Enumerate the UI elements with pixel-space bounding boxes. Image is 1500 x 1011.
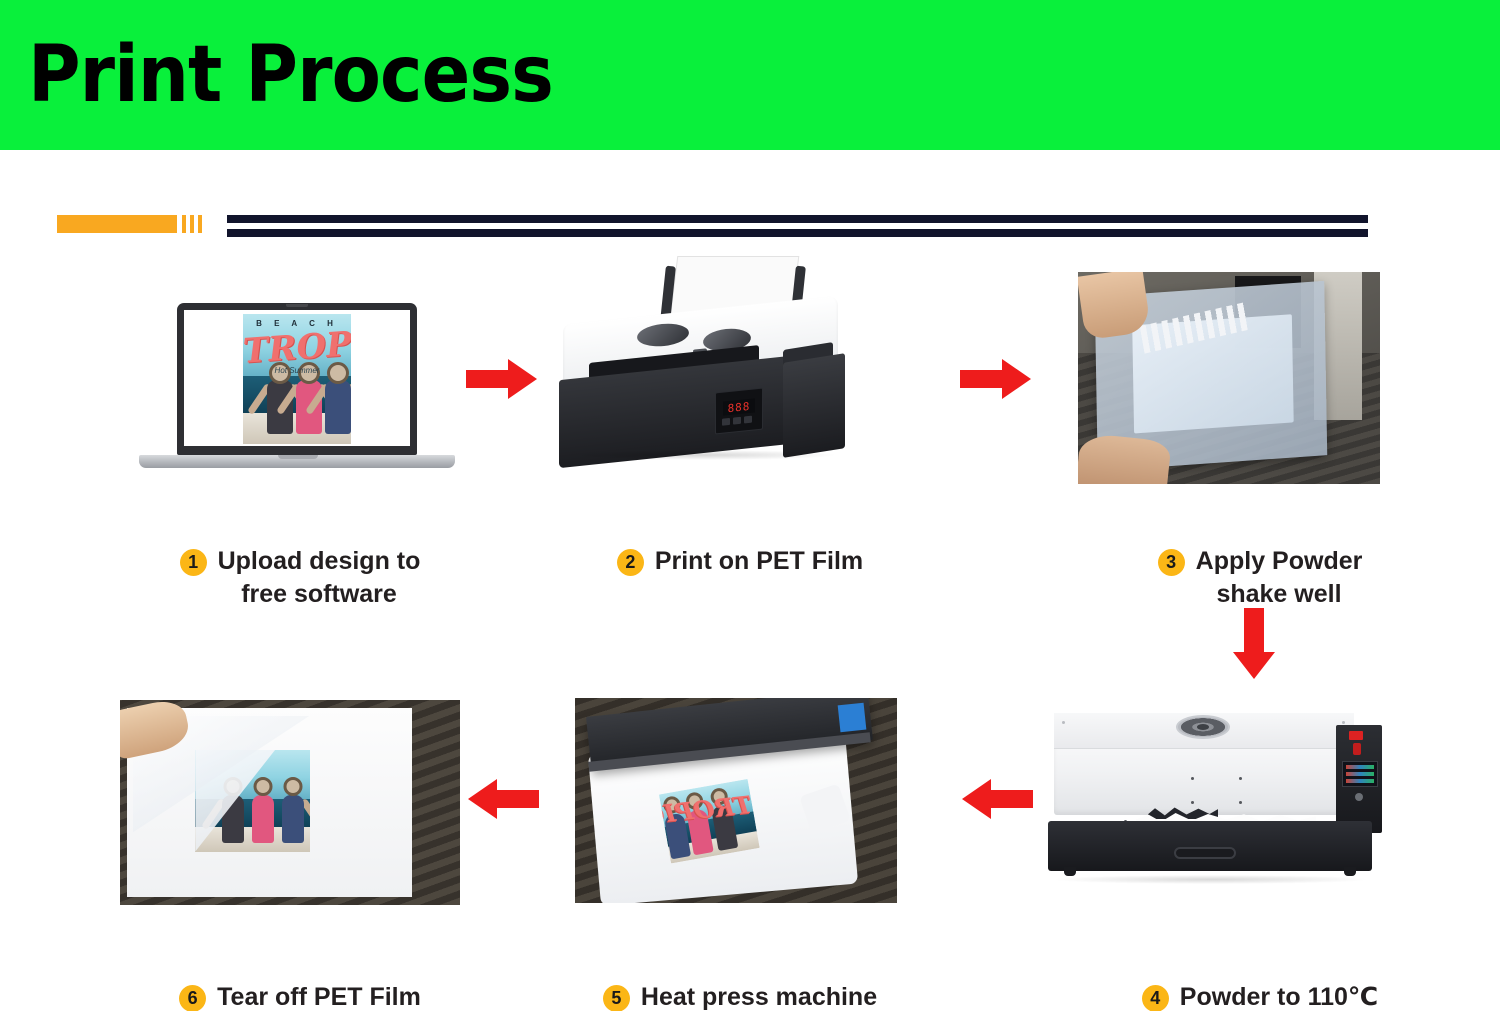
step-4-caption: 4 Powder to 110℃ for 50 seconds xyxy=(1080,948,1440,1011)
figure-body xyxy=(325,380,351,434)
oven-power-switch[interactable] xyxy=(1349,731,1363,740)
printer-ink-tank xyxy=(783,353,845,458)
oven-display-line xyxy=(1346,779,1374,783)
step-3-caption-text: Apply Powder shake well xyxy=(1196,545,1363,611)
poster-artwork: B E A C H TROPICAL Hot Summer xyxy=(243,314,351,444)
oven-display-line xyxy=(1346,786,1374,787)
divider-dark-bar xyxy=(227,229,1368,237)
arrow-step2-to-step3 xyxy=(960,358,1032,400)
design-poster: B E A C H TROPICAL Hot Summer xyxy=(243,314,351,444)
oven-dot xyxy=(1191,777,1194,780)
step-2-caption: 2 Print on PET Film xyxy=(560,512,920,611)
divider-orange-bar xyxy=(57,215,177,233)
poster-artwork-mirrored: TROPICAL xyxy=(659,779,760,863)
step-2-media-dtf-printer: PLANET-ECO 888 xyxy=(545,250,865,485)
step-1-caption: 1 Upload design to free software xyxy=(120,512,480,644)
heat-press-label xyxy=(838,703,866,732)
arrow-step3-to-step4 xyxy=(1232,608,1276,680)
step-3-media-hands-holding-pet-film xyxy=(1078,272,1380,484)
printer-button xyxy=(722,418,730,426)
arrow-step1-to-step2 xyxy=(466,358,538,400)
oven-fan-vent-icon xyxy=(1176,715,1230,739)
oven-base xyxy=(1048,821,1372,871)
oven-illustration xyxy=(1036,695,1386,890)
printer-button xyxy=(744,416,752,424)
laptop-illustration: B E A C H TROPICAL Hot Summer xyxy=(125,283,470,483)
step-1-badge: 1 xyxy=(180,549,207,576)
step-1-media-laptop-with-design: B E A C H TROPICAL Hot Summer xyxy=(125,283,470,483)
step-6-badge: 6 xyxy=(179,985,206,1011)
poster-figures xyxy=(243,366,351,434)
figure-head xyxy=(254,777,273,796)
divider-dark-bar xyxy=(227,215,1368,223)
peel-film-photo xyxy=(120,700,460,905)
oven-display-line xyxy=(1346,765,1374,769)
step-4-caption-text: Powder to 110℃ for 50 seconds xyxy=(1180,981,1378,1011)
divider xyxy=(0,205,1500,241)
oven-dot xyxy=(1239,801,1242,804)
printer-button xyxy=(733,417,741,425)
printer-illustration: PLANET-ECO 888 xyxy=(545,250,865,485)
laptop-base-notch xyxy=(278,455,318,459)
figure-head xyxy=(284,777,303,796)
tshirt-printed-design: TROPICAL xyxy=(659,779,760,863)
divider-tick xyxy=(182,215,186,233)
oven-screw xyxy=(1062,721,1065,724)
step-5-media-heat-press-tshirt: TROPICAL xyxy=(575,698,897,903)
oven-shadow xyxy=(1056,875,1366,884)
step-2-badge: 2 xyxy=(617,549,644,576)
poster-figure xyxy=(274,777,309,843)
figure-body xyxy=(252,795,274,843)
tshirt-sleeve xyxy=(800,783,852,834)
step-6-media-peeling-pet-film xyxy=(120,700,460,905)
step-5-caption-text: Heat press machine 150℃ 8 seconds xyxy=(641,981,877,1011)
arrow-step5-to-step6 xyxy=(468,778,540,820)
divider-tick xyxy=(198,215,202,233)
laptop-camera-notch xyxy=(286,304,308,307)
oven-display-line xyxy=(1346,772,1374,776)
laptop-screen: B E A C H TROPICAL Hot Summer xyxy=(184,310,410,446)
poster-subtitle: Hot Summer xyxy=(243,366,351,375)
poster-main-title: TROPICAL xyxy=(243,325,351,372)
header-band: Print Process xyxy=(0,0,1500,150)
step-5-caption: 5 Heat press machine 150℃ 8 seconds xyxy=(560,948,920,1011)
step-4-badge: 4 xyxy=(1142,985,1169,1011)
step-5-badge: 5 xyxy=(603,985,630,1011)
step-2-caption-text: Print on PET Film xyxy=(655,545,863,578)
figure-body xyxy=(282,795,304,843)
oven-screw xyxy=(1342,721,1345,724)
divider-tick xyxy=(190,215,194,233)
step-4-media-curing-oven xyxy=(1036,695,1386,890)
oven-knob[interactable] xyxy=(1355,793,1363,801)
printer-shadow xyxy=(569,450,834,460)
laptop-lid: B E A C H TROPICAL Hot Summer xyxy=(177,303,417,455)
page-title: Print Process xyxy=(28,36,553,114)
arrow-step4-to-step5 xyxy=(962,778,1034,820)
oven-emergency-button[interactable] xyxy=(1353,743,1361,755)
step-3-badge: 3 xyxy=(1158,549,1185,576)
step-6-caption-text: Tear off PET Film xyxy=(217,981,421,1011)
pet-film-photo xyxy=(1078,272,1380,484)
oven-dot xyxy=(1239,777,1242,780)
oven-handle[interactable] xyxy=(1174,847,1236,859)
heat-press-photo: TROPICAL xyxy=(575,698,897,903)
oven-dot xyxy=(1191,801,1194,804)
step-6-caption: 6 Tear off PET Film xyxy=(120,948,480,1011)
step-1-caption-text: Upload design to free software xyxy=(218,545,421,611)
oven-display-panel[interactable] xyxy=(1342,761,1378,787)
print-process-infographic: Print Process xyxy=(0,0,1500,1011)
